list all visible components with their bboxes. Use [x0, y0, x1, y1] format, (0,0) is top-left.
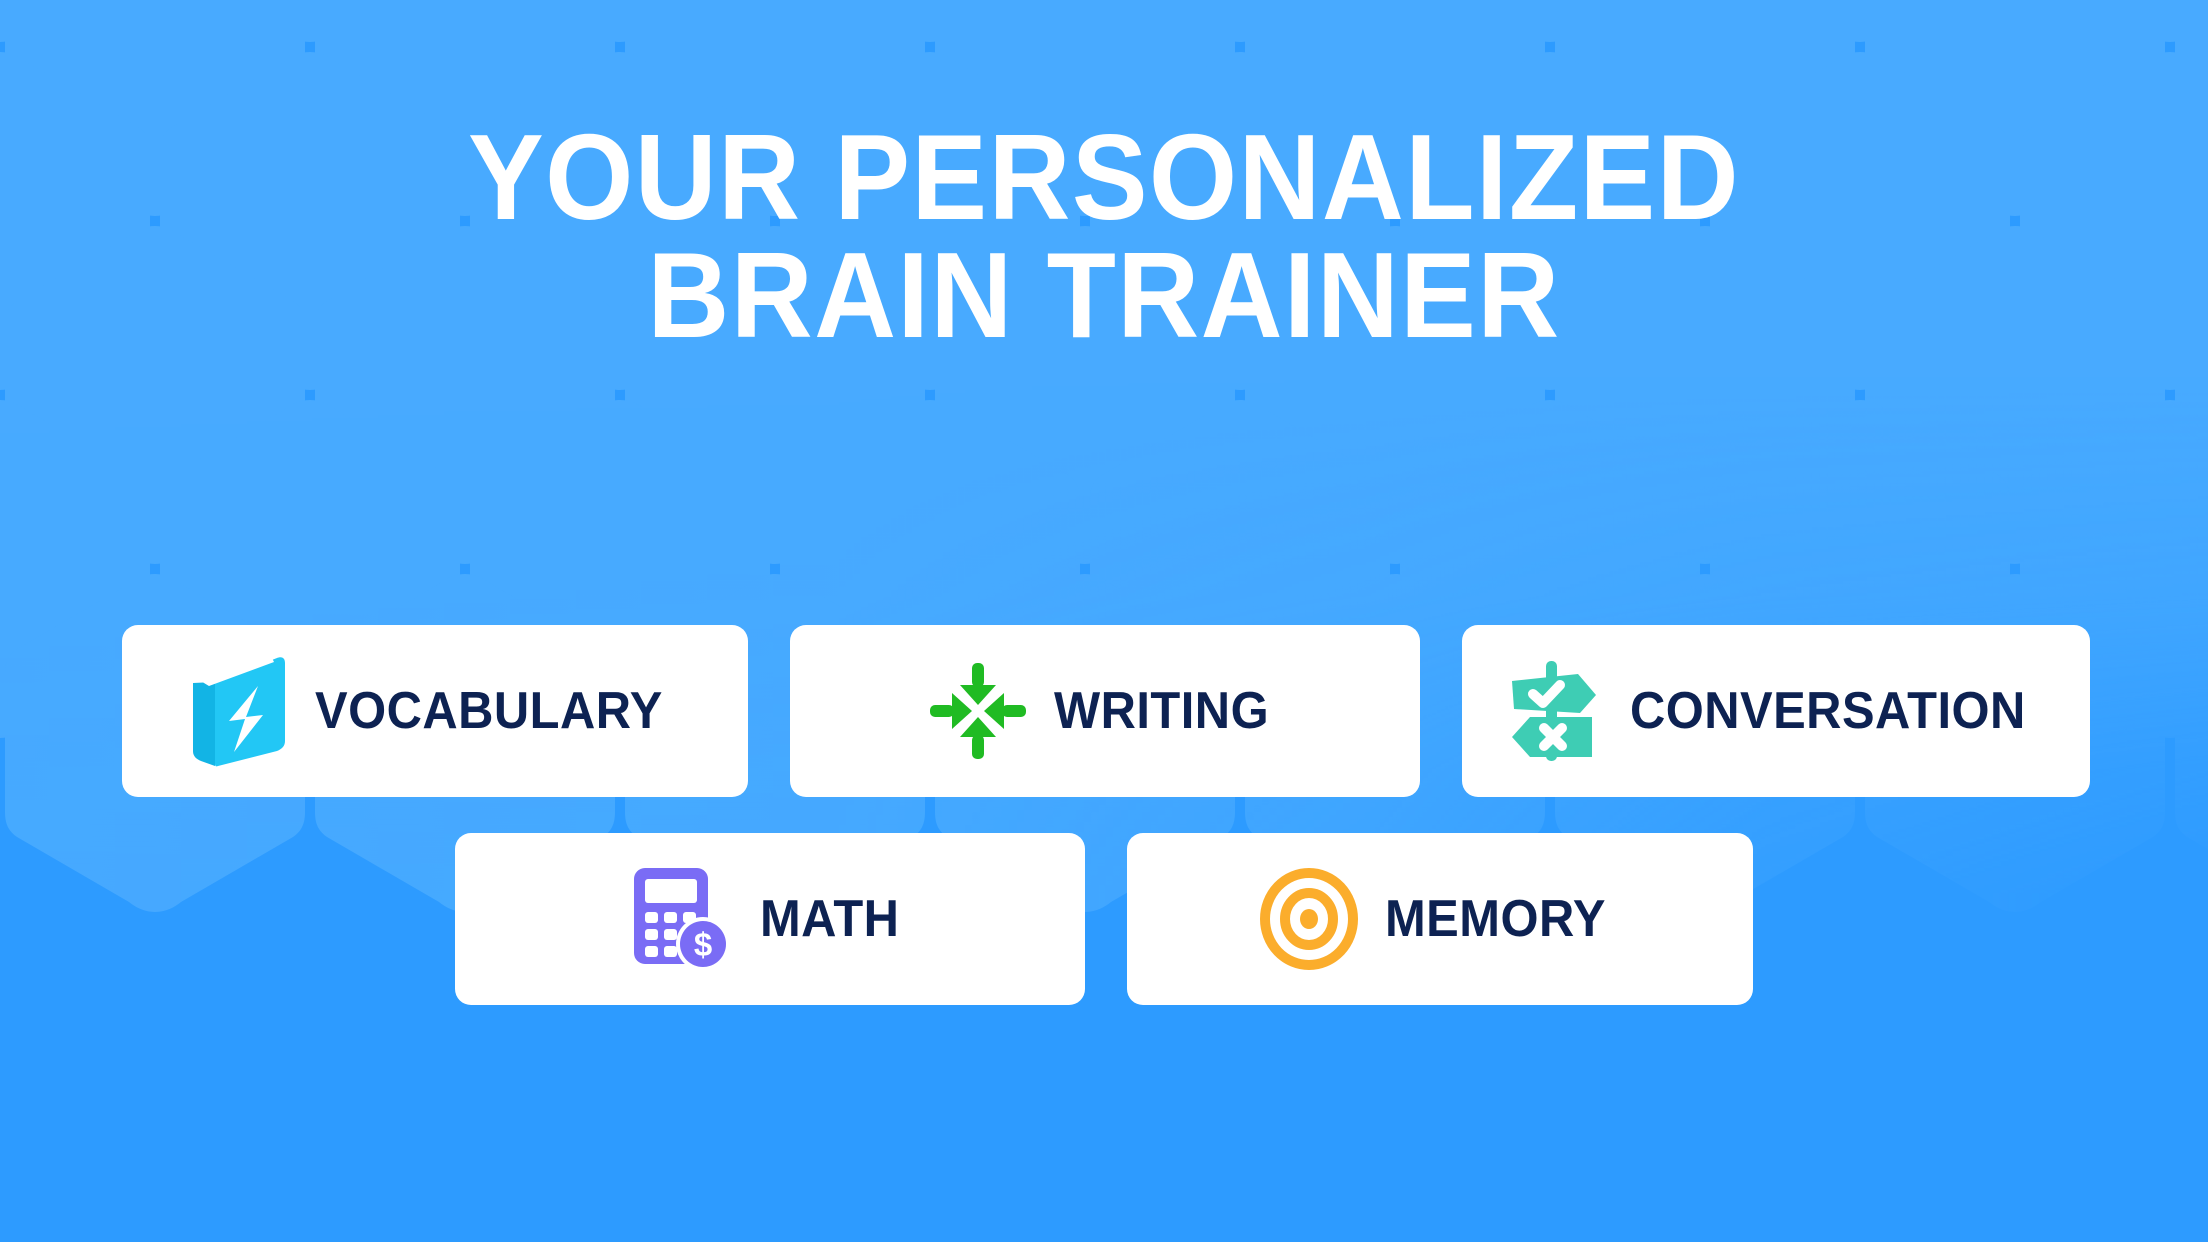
calculator-dollar-icon: $ — [632, 866, 734, 972]
target-icon — [1259, 867, 1359, 971]
hero-banner: YOUR PERSONALIZED BRAIN TRAINER VOCABULA… — [0, 0, 2208, 1242]
svg-text:$: $ — [694, 926, 712, 963]
book-lightning-icon — [185, 655, 289, 767]
card-vocabulary-label: VOCABULARY — [315, 681, 663, 741]
card-writing-label: WRITING — [1054, 681, 1269, 741]
page-title-line-2: BRAIN TRAINER — [77, 236, 2130, 354]
card-conversation[interactable]: CONVERSATION — [1462, 625, 2090, 797]
page-title: YOUR PERSONALIZED BRAIN TRAINER — [0, 118, 2208, 355]
card-memory-label: MEMORY — [1385, 889, 1606, 949]
card-vocabulary[interactable]: VOCABULARY — [122, 625, 748, 797]
card-writing[interactable]: WRITING — [790, 625, 1420, 797]
card-memory[interactable]: MEMORY — [1127, 833, 1753, 1005]
card-math-label: MATH — [760, 889, 899, 949]
page-title-line-1: YOUR PERSONALIZED — [77, 118, 2130, 236]
signpost-icon — [1500, 655, 1604, 767]
card-math[interactable]: $ MATH — [455, 833, 1085, 1005]
arrows-converging-icon — [928, 661, 1028, 761]
card-conversation-label: CONVERSATION — [1630, 681, 2026, 741]
